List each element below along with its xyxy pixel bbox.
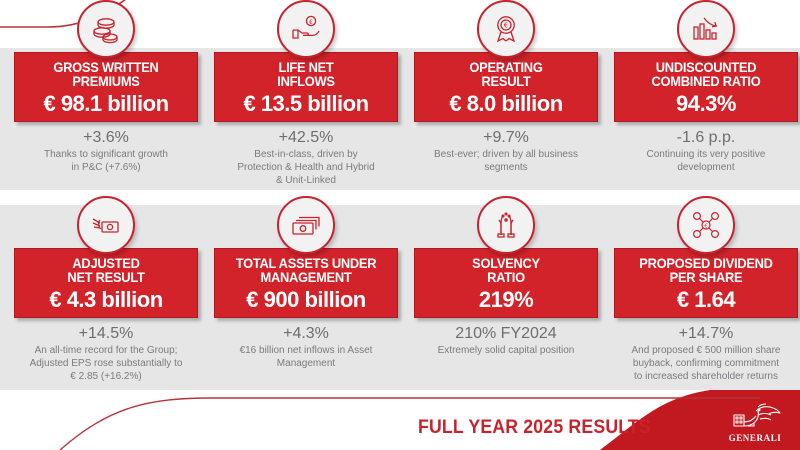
hand-with-euro-coin-icon: € (277, 0, 335, 58)
logo-wordmark: GENERALI (729, 433, 782, 443)
metric-note: Extremely solid capital position (434, 345, 579, 358)
metric-delta: +42.5% (279, 129, 334, 147)
slide-canvas: GROSS WRITTEN PREMIUMS € 98.1 billion +3… (0, 0, 800, 450)
metric-card[interactable]: UNDISCOUNTED COMBINED RATIO 94.3% -1.6 p… (614, 0, 798, 188)
metric-card[interactable]: € LIFE NET INFLOWS € 13.5 billion +42.5%… (214, 0, 398, 188)
metric-card[interactable]: SOLVENCY RATIO 219% 210% FY2024 Extremel… (414, 196, 598, 384)
svg-text:€: € (309, 19, 313, 26)
metric-card[interactable]: € PROPOSED DIVIDEND PER SHARE € 1.64 +14… (614, 196, 798, 384)
bar-chart-down-arrow-icon (677, 0, 735, 58)
metric-note: An all-time record for the Group; Adjust… (26, 345, 187, 383)
metric-plate: OPERATING RESULT € 8.0 billion (414, 52, 598, 122)
metric-card[interactable]: ADJUSTED NET RESULT € 4.3 billion +14.5%… (14, 196, 198, 384)
metric-note: €16 billion net inflows in Asset Managem… (236, 345, 377, 371)
metric-note: Best-in-class, driven by Protection & He… (233, 149, 378, 187)
metrics-row-top: GROSS WRITTEN PREMIUMS € 98.1 billion +3… (0, 0, 800, 188)
award-ribbon-euro-icon: € (477, 0, 535, 58)
metric-note: Thanks to significant growth in P&C (+7.… (40, 149, 172, 175)
metric-plate: SOLVENCY RATIO 219% (414, 248, 598, 318)
metric-title: OPERATING RESULT (426, 60, 586, 89)
metric-value: € 4.3 billion (19, 287, 193, 312)
metric-delta: +4.3% (283, 325, 329, 343)
svg-text:€: € (504, 22, 508, 30)
metric-title: GROSS WRITTEN PREMIUMS (26, 60, 186, 89)
metric-note: Continuing its very positive development (643, 149, 770, 175)
metric-value: 219% (419, 287, 593, 312)
metrics-row-bottom: ADJUSTED NET RESULT € 4.3 billion +14.5%… (0, 196, 800, 384)
metric-card[interactable]: GROSS WRITTEN PREMIUMS € 98.1 billion +3… (14, 0, 198, 188)
stacked-coins-icon (77, 0, 135, 58)
metric-delta: 210% FY2024 (455, 325, 556, 343)
generali-logo[interactable]: GENERALI (710, 395, 800, 450)
network-nodes-euro-icon: € (677, 196, 735, 254)
metric-delta: +14.7% (679, 325, 734, 343)
metric-delta: -1.6 p.p. (677, 129, 736, 147)
metric-value: € 1.64 (619, 287, 793, 312)
hand-with-banknote-icon (77, 196, 135, 254)
metric-delta: +14.5% (79, 325, 134, 343)
metric-note: And proposed € 500 million share buyback… (628, 345, 785, 383)
metric-delta: +3.6% (83, 129, 129, 147)
metric-title: TOTAL ASSETS UNDER MANAGEMENT (226, 256, 386, 285)
metric-title: PROPOSED DIVIDEND PER SHARE (626, 256, 786, 285)
metric-value: € 900 billion (219, 287, 393, 312)
banknote-stack-icon (277, 196, 335, 254)
metric-plate: GROSS WRITTEN PREMIUMS € 98.1 billion (14, 52, 198, 122)
metric-value: 94.3% (619, 91, 793, 116)
metric-plate: ADJUSTED NET RESULT € 4.3 billion (14, 248, 198, 318)
metric-value: € 13.5 billion (219, 91, 393, 116)
metric-card[interactable]: TOTAL ASSETS UNDER MANAGEMENT € 900 bill… (214, 196, 398, 384)
metric-title: LIFE NET INFLOWS (226, 60, 386, 89)
metric-title: SOLVENCY RATIO (426, 256, 586, 285)
metric-plate: TOTAL ASSETS UNDER MANAGEMENT € 900 bill… (214, 248, 398, 318)
metric-title: ADJUSTED NET RESULT (26, 256, 186, 285)
metric-note: Best-ever; driven by all business segmen… (430, 149, 582, 175)
metric-plate: PROPOSED DIVIDEND PER SHARE € 1.64 (614, 248, 798, 318)
metric-delta: +9.7% (483, 129, 529, 147)
footer-title: FULL YEAR 2025 RESULTS (418, 417, 651, 439)
protecting-hands-icon (477, 196, 535, 254)
metric-value: € 98.1 billion (19, 91, 193, 116)
footer-shape (0, 390, 800, 450)
metric-title: UNDISCOUNTED COMBINED RATIO (626, 60, 786, 89)
winged-lion-icon (728, 402, 782, 432)
metric-value: € 8.0 billion (419, 91, 593, 116)
metric-plate: LIFE NET INFLOWS € 13.5 billion (214, 52, 398, 122)
metric-plate: UNDISCOUNTED COMBINED RATIO 94.3% (614, 52, 798, 122)
svg-text:€: € (704, 223, 708, 229)
slide-footer (0, 390, 800, 450)
metric-card[interactable]: € OPERATING RESULT € 8.0 billion +9.7% B… (414, 0, 598, 188)
